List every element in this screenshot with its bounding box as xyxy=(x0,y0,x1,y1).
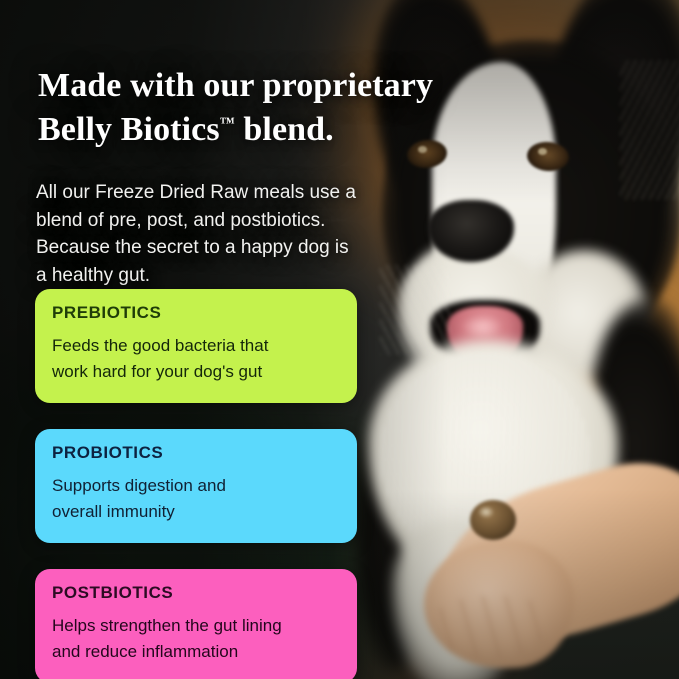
card-prebiotics-body: Feeds the good bacteria that work hard f… xyxy=(52,333,340,385)
headline-line-1: Made with our proprietary xyxy=(38,67,433,104)
card-postbiotics-title: POSTBIOTICS xyxy=(52,583,340,603)
benefit-cards-list: PREBIOTICS Feeds the good bacteria that … xyxy=(35,289,357,679)
card-prebiotics: PREBIOTICS Feeds the good bacteria that … xyxy=(35,289,357,403)
card-probiotics-title: PROBIOTICS xyxy=(52,443,340,463)
subcopy-paragraph: All our Freeze Dried Raw meals use a ble… xyxy=(36,179,356,289)
poster-content: Made with our proprietaryBelly Biotics™ … xyxy=(0,0,679,679)
page-title: Made with our proprietaryBelly Biotics™ … xyxy=(38,64,468,152)
headline-line-2-brand: Belly Biotics xyxy=(38,111,220,148)
card-probiotics: PROBIOTICS Supports digestion and overal… xyxy=(35,429,357,543)
headline-line-2-tail: blend. xyxy=(235,111,334,148)
trademark-symbol: ™ xyxy=(220,115,235,131)
promotional-poster: Made with our proprietaryBelly Biotics™ … xyxy=(0,0,679,679)
card-postbiotics: POSTBIOTICS Helps strengthen the gut lin… xyxy=(35,569,357,679)
card-prebiotics-title: PREBIOTICS xyxy=(52,303,340,323)
card-postbiotics-body: Helps strengthen the gut lining and redu… xyxy=(52,613,340,665)
card-probiotics-body: Supports digestion and overall immunity xyxy=(52,473,340,525)
